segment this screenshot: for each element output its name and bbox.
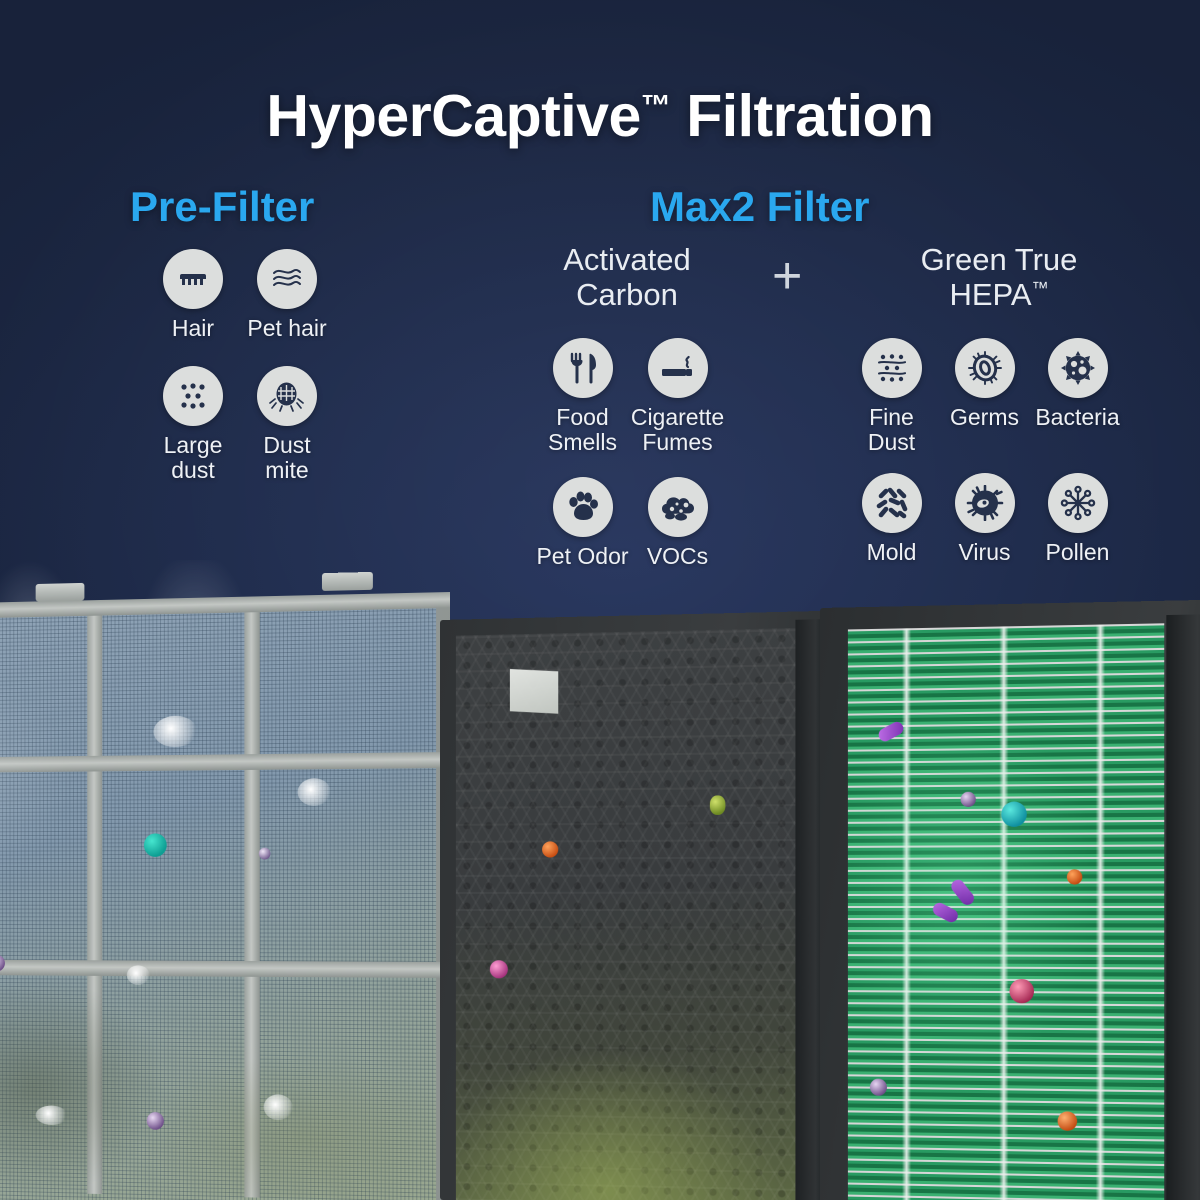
hepa-item-fine-dust: Fine Dust <box>845 338 938 455</box>
particle-feather <box>36 1105 68 1125</box>
green-true-hepa-icon-grid: Fine Dust Germs <box>845 338 1125 564</box>
product-photo <box>0 560 1200 1200</box>
pollen-icon <box>1048 473 1108 533</box>
pet-hair-icon <box>257 249 317 309</box>
particle-orange-pollen-3 <box>1058 1111 1078 1131</box>
page-title: HyperCaptive™ Filtration <box>0 82 1200 150</box>
hepa-trademark: ™ <box>1032 279 1049 298</box>
title-main: HyperCaptive <box>266 83 640 149</box>
vocs-cloud-icon <box>648 477 708 537</box>
carbon-item-vocs: VOCs <box>630 477 725 569</box>
carbon-label-food-smells: Food Smells <box>548 405 617 455</box>
fine-dust-icon <box>862 338 922 398</box>
carbon-item-cigarette-fumes: Cigarette Fumes <box>630 338 725 455</box>
activated-carbon-icon-grid: Food Smells Cigarette Fumes <box>535 338 725 568</box>
paw-icon <box>553 477 613 537</box>
carbon-odor-haze <box>456 900 796 1200</box>
carbon-item-pet-odor: Pet Odor <box>535 477 630 569</box>
hepa-item-germs: Germs <box>938 338 1031 455</box>
pre-filter-item-large-dust: Large dust <box>146 366 240 483</box>
activated-carbon-heading: Activated Carbon <box>508 242 746 313</box>
pre-filter-item-pet-hair: Pet hair <box>240 249 334 341</box>
carbon-label-sticker <box>510 669 558 714</box>
virus-icon <box>955 473 1015 533</box>
hepa-label-germs: Germs <box>950 405 1019 430</box>
particle-green-spore <box>710 795 726 815</box>
dust-mite-icon <box>257 366 317 426</box>
hepa-glow <box>848 623 1164 1200</box>
hepa-item-mold: Mold <box>845 473 938 565</box>
hepa-label-fine-dust: Fine Dust <box>868 405 915 455</box>
particle-orange-pollen-2 <box>1067 869 1082 884</box>
particle-teal-virus <box>1001 801 1027 827</box>
pre-filter-icon-grid: Hair Pet hair <box>146 249 346 482</box>
title-trademark: ™ <box>641 89 671 122</box>
pre-filter-panel <box>0 592 450 1200</box>
activated-carbon-panel <box>440 611 829 1200</box>
hepa-label-bacteria: Bacteria <box>1035 405 1119 430</box>
pre-filter-label-pet-hair: Pet hair <box>247 316 326 341</box>
activated-carbon-heading-line2: Carbon <box>576 277 678 312</box>
particle-pink-virus <box>490 960 508 978</box>
pre-filter-label-large-dust: Large dust <box>164 433 223 483</box>
cigarette-icon <box>648 338 708 398</box>
particle-violet-spore-2 <box>147 1112 164 1130</box>
particle-teal-germ <box>144 833 167 857</box>
particle-violet-germ-2 <box>870 1079 887 1096</box>
green-true-hepa-heading: Green True HEPA™ <box>880 242 1118 313</box>
comb-icon <box>163 249 223 309</box>
particle-small-spore <box>259 848 271 860</box>
pre-filter-item-dust-mite: Dust mite <box>240 366 334 483</box>
title-rest: Filtration <box>670 83 933 149</box>
pre-filter-grime <box>0 592 450 1200</box>
mold-spores-icon <box>862 473 922 533</box>
bacteria-icon <box>1048 338 1108 398</box>
carbon-label-cigarette-fumes: Cigarette Fumes <box>631 405 724 455</box>
max2-filter-heading: Max2 Filter <box>650 183 869 231</box>
green-true-hepa-panel <box>820 599 1200 1200</box>
particle-violet-germ <box>961 792 976 807</box>
hepa-item-pollen: Pollen <box>1031 473 1124 565</box>
pre-filter-label-hair: Hair <box>172 316 214 341</box>
pre-filter-heading: Pre-Filter <box>130 183 314 231</box>
particle-orange-pollen <box>542 841 558 857</box>
hepa-item-virus: Virus <box>938 473 1031 565</box>
pre-filter-item-hair: Hair <box>146 249 240 341</box>
hepa-side-wall <box>1166 614 1200 1200</box>
carbon-item-food-smells: Food Smells <box>535 338 630 455</box>
activated-carbon-heading-line1: Activated <box>563 242 691 277</box>
fork-knife-icon <box>553 338 613 398</box>
hepa-heading-line1: Green True <box>921 242 1078 277</box>
particle-pink-virus-2 <box>1009 979 1034 1003</box>
particle-dust-clump <box>298 778 331 806</box>
pre-filter-label-dust-mite: Dust mite <box>263 433 310 483</box>
particle-lint <box>127 965 150 985</box>
hepa-item-bacteria: Bacteria <box>1031 338 1124 455</box>
plus-separator-icon: + <box>772 250 802 302</box>
pre-filter-tab-right <box>322 572 373 591</box>
infographic-canvas: HyperCaptive™ Filtration Pre-Filter Max2… <box>0 0 1200 1200</box>
large-dust-icon <box>163 366 223 426</box>
particle-snow-clump <box>264 1094 293 1120</box>
germ-icon <box>955 338 1015 398</box>
hepa-heading-line2: HEPA <box>949 277 1031 312</box>
pre-filter-tab-left <box>36 583 85 602</box>
